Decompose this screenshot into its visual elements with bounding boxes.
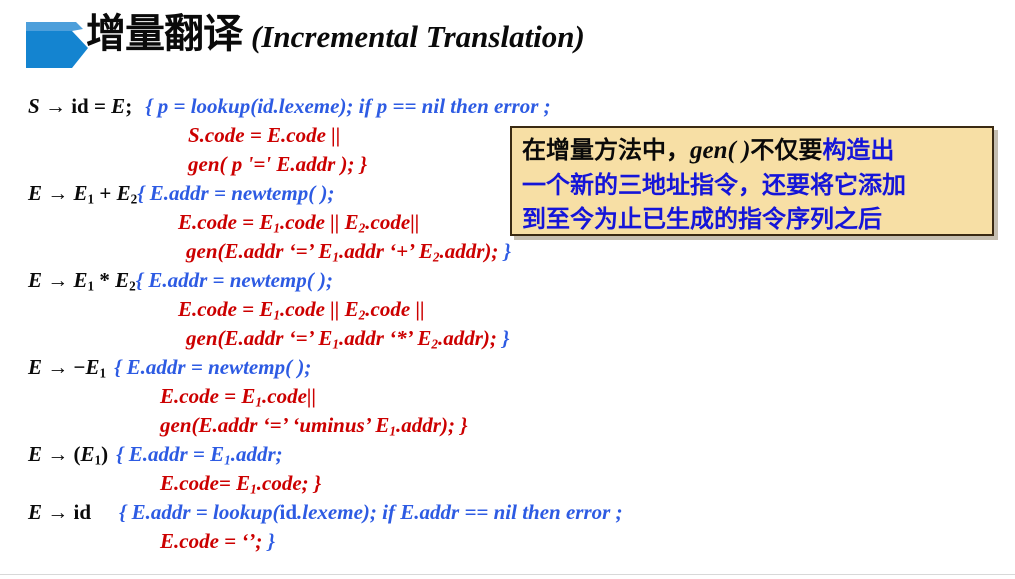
rule-id-head: E → id	[28, 498, 91, 527]
rule-assign-action-2: S.code = E.code ||	[188, 123, 340, 147]
rule-times-head: E → E1 * E2	[28, 266, 136, 295]
rule-plus-head: E → E1 + E2	[28, 179, 137, 208]
callout-line-3: 到至今为止已生成的指令序列之后	[522, 202, 986, 236]
rule-uminus-line-3: gen(E.addr ‘=’ ‘uminus’ E1.addr); }	[0, 411, 1015, 440]
callout-line1-part3: 构造出	[822, 136, 894, 164]
rule-times-line-1: E → E1 * E2{ E.addr = newtemp( );	[0, 266, 1015, 295]
callout-line1-gen: gen( )	[690, 137, 750, 164]
rule-times-line-3: gen(E.addr ‘=’ E1.addr ‘*’ E2.addr); }	[0, 324, 1015, 353]
callout-line1-part1: 在增量方法中，	[522, 136, 690, 164]
rule-id-line-2: E.code = ‘’; }	[0, 527, 1015, 556]
rule-paren-line-2: E.code= E1.code; }	[0, 469, 1015, 498]
rule-uminus-line-1: E → −E1{ E.addr = newtemp( );	[0, 353, 1015, 382]
rule-uminus-head: E → −E1	[28, 353, 106, 382]
rule-assign-action-3: gen( p '=' E.addr ); }	[188, 152, 367, 176]
callout-line-1: 在增量方法中，gen( )不仅要构造出	[522, 133, 986, 168]
slide-title-bar: 增量翻译(Incremental Translation)	[0, 14, 1015, 76]
callout-line-2: 一个新的三地址指令，还要将它添加	[522, 168, 986, 202]
rule-paren-line-1: E → (E1){ E.addr = E1.addr;	[0, 440, 1015, 469]
rule-id-line-1: E → id{ E.addr = lookup(id.lexeme); if E…	[0, 498, 1015, 527]
rule-assign-line-1: S → id = E;{ p = lookup(id.lexeme); if p…	[0, 92, 1015, 121]
rule-plus-line-3: gen(E.addr ‘=’ E1.addr ‘+’ E2.addr); }	[0, 237, 1015, 266]
rule-assign-action-1: { p = lookup(id.lexeme); if p == nil the…	[145, 94, 550, 118]
page-title-chinese: 增量翻译	[86, 11, 242, 57]
bottom-divider	[0, 574, 1015, 575]
rule-uminus-line-2: E.code = E1.code||	[0, 382, 1015, 411]
callout-line1-part2: 不仅要	[750, 136, 822, 164]
rule-times-line-2: E.code = E1.code || E2.code ||	[0, 295, 1015, 324]
page-title: 增量翻译(Incremental Translation)	[86, 14, 585, 54]
right-arrow-banner-icon	[26, 22, 88, 68]
page-title-english: (Incremental Translation)	[242, 19, 585, 54]
rule-paren-head: E → (E1)	[28, 440, 108, 469]
callout-box: 在增量方法中，gen( )不仅要构造出 一个新的三地址指令，还要将它添加 到至今…	[510, 126, 994, 236]
